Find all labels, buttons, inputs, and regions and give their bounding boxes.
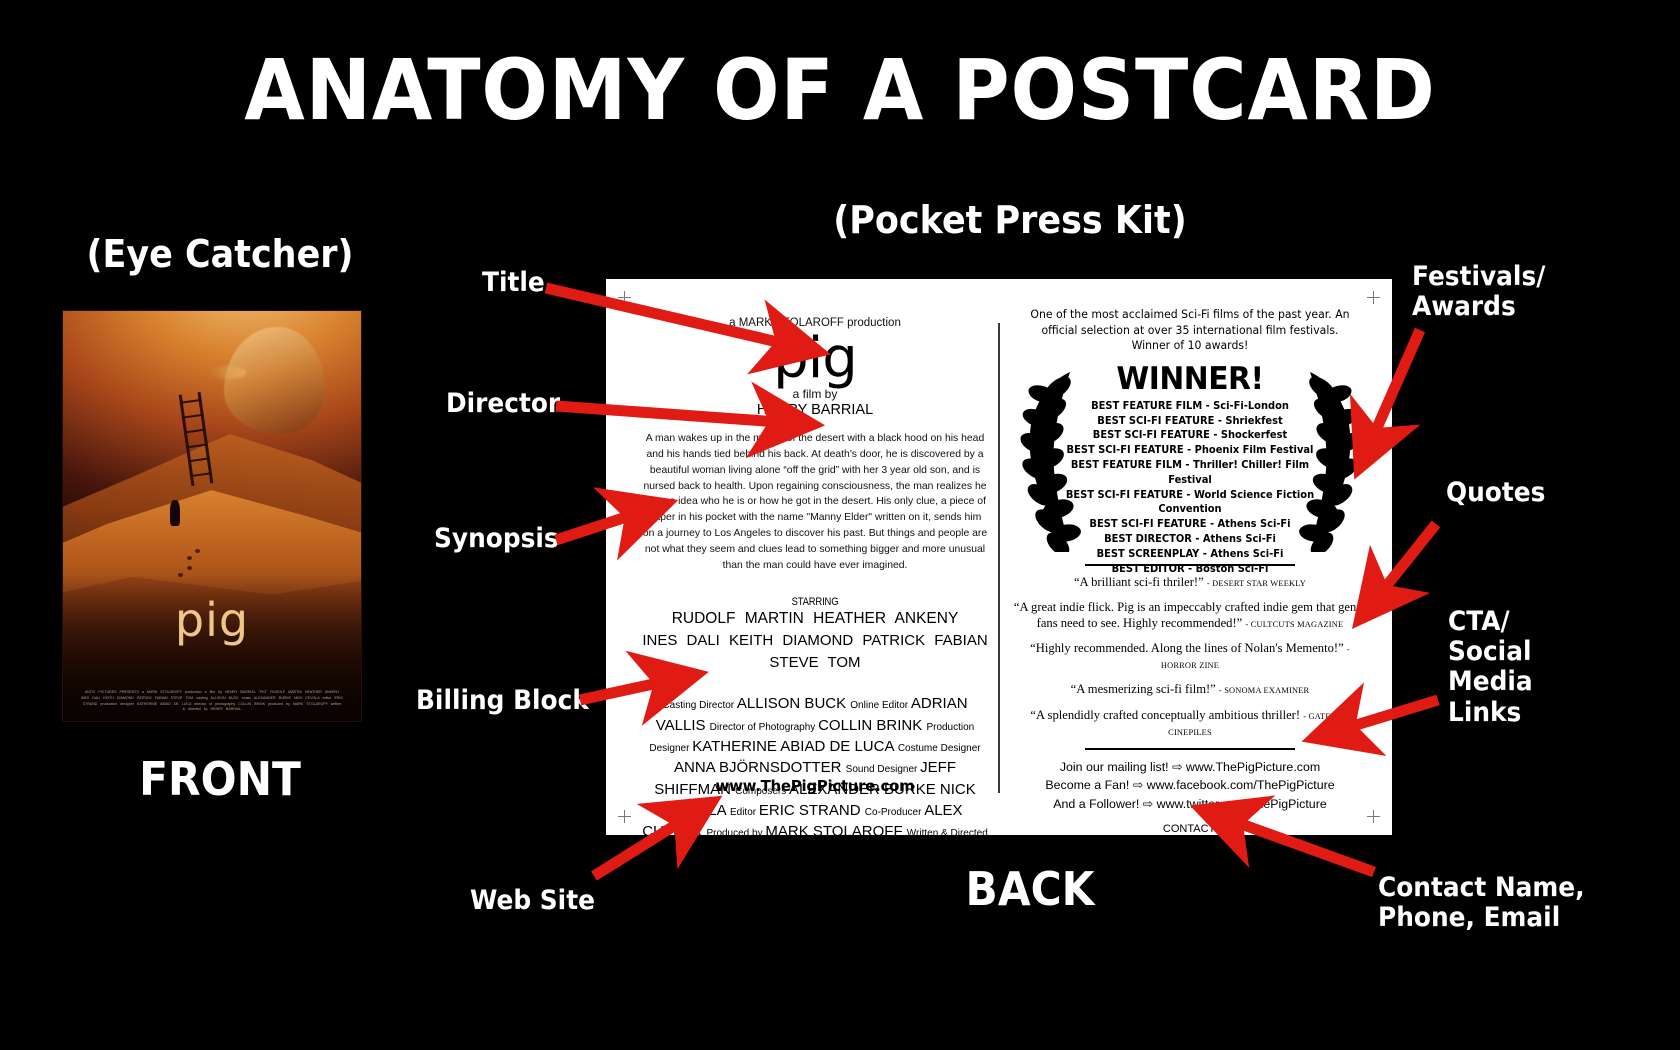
award-item: BEST SCREENPLAY - Athens Sci-Fi	[1066, 548, 1314, 563]
crop-mark-top-right	[1367, 291, 1380, 304]
cast-line-2: INES DALI KEITH DIAMOND PATRICK FABIAN S…	[636, 630, 994, 674]
press-quote: “A mesmerizing sci-fi film!” - SONOMA EX…	[1006, 681, 1374, 697]
quote-source: - SONOMA EXAMINER	[1219, 686, 1309, 695]
callout-quotes: Quotes	[1446, 478, 1545, 508]
social-link-row[interactable]: And a Follower! ⇨ www.twitter.com/ThePig…	[1006, 795, 1374, 814]
social-url[interactable]: www.facebook.com/ThePigPicture	[1147, 778, 1335, 792]
billing-role: Editor	[730, 807, 759, 818]
social-link-row[interactable]: Join our mailing list! ⇨ www.ThePigPictu…	[1006, 758, 1374, 777]
billing-name: ERIC STRAND	[759, 802, 865, 819]
award-item: BEST SCI-FI FEATURE - Shriekfest	[1066, 415, 1314, 430]
callout-director: Director	[446, 389, 560, 419]
press-quotes: “A brilliant sci-fi thriler!” - DESERT S…	[1006, 574, 1374, 739]
quote-text: “Highly recommended. Along the lines of …	[1030, 641, 1347, 655]
press-quote: “Highly recommended. Along the lines of …	[1006, 640, 1374, 672]
crop-mark-bottom-left	[618, 810, 631, 823]
social-label: Become a Fan!	[1045, 778, 1132, 792]
callout-web-site: Web Site	[470, 886, 595, 916]
callout-title: Title	[482, 268, 545, 298]
billing-name: ALLISON BUCK	[737, 695, 850, 712]
billing-role: Co-Producer	[865, 807, 924, 818]
award-item: BEST FEATURE FILM - Thriller! Chiller! F…	[1066, 459, 1314, 489]
quote-source: - DESERT STAR WEEKLY	[1207, 579, 1306, 588]
poster-title: pig	[63, 593, 361, 647]
contact-details: Mark Stolaroff • (310) 890-3064 • mark@a…	[1006, 836, 1374, 847]
page-title: ANATOMY OF A POSTCARD	[59, 48, 1621, 132]
screenshot-root: ANATOMY OF A POSTCARD (Pocket Press Kit)…	[0, 0, 1680, 1050]
billing-name: HENRY BARRIAL	[762, 845, 882, 862]
billing-name: MARK STOLAROFF	[765, 823, 906, 840]
poster-walking-figure	[170, 500, 180, 526]
award-item: BEST DIRECTOR - Athens Sci-Fi	[1066, 533, 1314, 548]
postcard-back: a MARK STOLAROFF production pig a film b…	[606, 279, 1392, 835]
website-link[interactable]: www.ThePigPicture.com	[636, 777, 994, 795]
callout-synopsis: Synopsis	[434, 524, 559, 554]
back-label: BACK	[837, 862, 1223, 916]
billing-name: COLLIN BRINK	[818, 717, 926, 734]
award-item: BEST FEATURE FILM - Sci-Fi-London	[1066, 400, 1314, 415]
quote-text: “A splendidly crafted conceptually ambit…	[1030, 708, 1303, 722]
press-quote: “A great indie flick. Pig is an impeccab…	[1006, 599, 1374, 631]
callout-festivals-awards: Festivals/ Awards	[1412, 262, 1545, 322]
starring-label: STARRING	[661, 596, 969, 608]
quote-source: - CULTCUTS MAGAZINE	[1245, 620, 1343, 629]
award-item: BEST SCI-FI FEATURE - Phoenix Film Festi…	[1066, 444, 1314, 459]
subtitle-eye-catcher: (Eye Catcher)	[54, 232, 385, 276]
subtitle-pocket-press-kit: (Pocket Press Kit)	[725, 198, 1295, 242]
social-label: And a Follower!	[1053, 797, 1143, 811]
award-item: BEST EDITOR - Boston Sci-Fi	[1066, 563, 1314, 578]
crop-mark-top-left	[618, 291, 631, 304]
award-item: BEST SCI-FI FEATURE - Shockerfest	[1066, 429, 1314, 444]
billing-role: Costume Designer	[898, 743, 981, 754]
billing-role: Online Editor	[850, 700, 911, 711]
right-arrow-icon: ⇨	[1143, 797, 1157, 811]
billing-name: ANNA BJÖRNSDOTTER	[674, 759, 846, 776]
social-label: Join our mailing list!	[1060, 760, 1172, 774]
winner-column: WINNER! BEST FEATURE FILM - Sci-Fi-Londo…	[1062, 364, 1318, 577]
social-link-row[interactable]: Become a Fan! ⇨ www.facebook.com/ThePigP…	[1006, 776, 1374, 795]
callout-cta-social: CTA/ Social Media Links	[1448, 607, 1533, 728]
billing-name: KATHERINE ABIAD DE LUCA	[692, 738, 898, 755]
social-url[interactable]: www.ThePigPicture.com	[1186, 760, 1320, 774]
quote-text: “A mesmerizing sci-fi film!”	[1071, 682, 1219, 696]
right-arrow-icon: ⇨	[1172, 760, 1186, 774]
film-title-logo: pig	[636, 333, 994, 385]
laurel-wreath-right-icon	[1298, 366, 1368, 552]
synopsis-text: A man wakes up in the middle of the dese…	[636, 431, 994, 573]
winner-heading: WINNER!	[1067, 364, 1313, 395]
social-links: Join our mailing list! ⇨ www.ThePigPictu…	[1006, 758, 1374, 814]
front-label: FRONT	[54, 752, 385, 806]
center-divider	[998, 323, 1000, 793]
movie-poster-front: pig ANTIC PICTURES PRESENTS a MARK STOLA…	[62, 310, 362, 722]
a-film-by-label: a film by	[636, 387, 994, 402]
award-item: BEST SCI-FI FEATURE - World Science Fict…	[1066, 489, 1314, 519]
contact-heading: CONTACT:	[1006, 823, 1374, 835]
billing-role: Casting Director	[662, 700, 736, 711]
social-url[interactable]: www.twitter.com/ThePigPicture	[1157, 797, 1327, 811]
postcard-right-panel: One of the most acclaimed Sci-Fi films o…	[1006, 307, 1374, 805]
right-arrow-icon: ⇨	[1133, 778, 1147, 792]
poster-billing-credits: ANTIC PICTURES PRESENTS a MARK STOLAROFF…	[81, 690, 343, 713]
callout-contact: Contact Name, Phone, Email	[1378, 873, 1585, 933]
cast-line-1: RUDOLF MARTIN HEATHER ANKENY	[636, 608, 994, 630]
billing-role: Produced by	[706, 828, 765, 839]
postcard-left-panel: a MARK STOLAROFF production pig a film b…	[636, 313, 994, 801]
billing-role: Sound Designer	[846, 764, 921, 775]
divider-rule-bottom	[1085, 748, 1295, 750]
billing-role: Director of Photography	[710, 722, 818, 733]
festival-intro-text: One of the most acclaimed Sci-Fi films o…	[1017, 307, 1363, 354]
director-name: HENRY BARRIAL	[636, 402, 994, 419]
awards-list: BEST FEATURE FILM - Sci-Fi-LondonBEST SC…	[1066, 400, 1314, 577]
callout-billing-block: Billing Block	[416, 686, 589, 716]
award-item: BEST SCI-FI FEATURE - Athens Sci-Fi	[1066, 518, 1314, 533]
awards-laurel-block: WINNER! BEST FEATURE FILM - Sci-Fi-Londo…	[1006, 362, 1374, 558]
press-quote: “A splendidly crafted conceptually ambit…	[1006, 707, 1374, 739]
